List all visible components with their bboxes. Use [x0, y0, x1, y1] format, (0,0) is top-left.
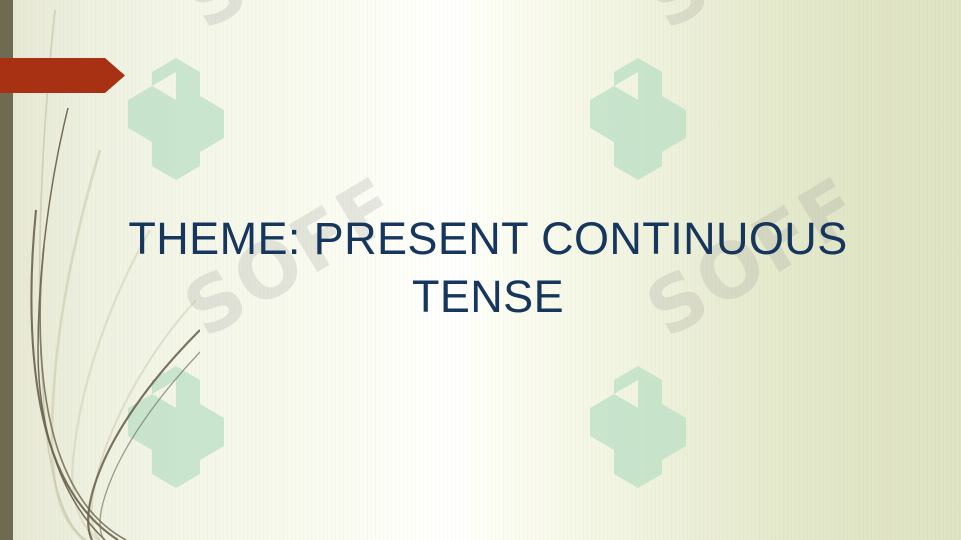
- soff-watermark: SOFF: [118, 0, 418, 230]
- soff-logo-icon: [590, 366, 686, 488]
- slide-title: THEME: PRESENT CONTINUOUS TENSE: [78, 210, 898, 326]
- red-arrow-banner: [0, 58, 125, 93]
- soff-watermark-text: SOFF: [631, 0, 875, 47]
- soff-watermark-text: SOFF: [169, 0, 413, 47]
- presentation-slide: SOFFSOFFSOFFSOFF THEME: PRESENT CONTINUO…: [0, 0, 961, 540]
- soff-logo-icon: [128, 58, 224, 180]
- soff-watermark: SOFF: [580, 0, 880, 230]
- soff-logo-icon: [128, 366, 224, 488]
- title-line-1: THEME: PRESENT CONTINUOUS: [78, 210, 898, 268]
- soff-logo-icon: [590, 58, 686, 180]
- title-line-2: TENSE: [78, 268, 898, 326]
